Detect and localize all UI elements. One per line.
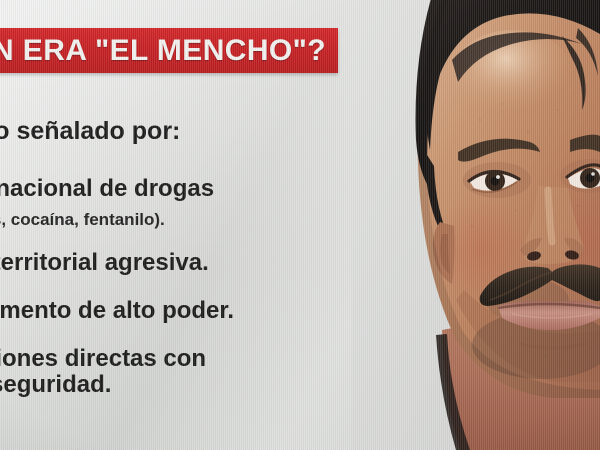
- tv-news-graphic: N ERA "EL MENCHO"? ha sido señalado por:…: [0, 0, 600, 450]
- lede-line: ha sido señalado por:: [0, 118, 352, 144]
- portrait-illustration: [352, 0, 600, 450]
- headline-banner-text: N ERA "EL MENCHO"?: [0, 36, 338, 66]
- bullet-item-4-line2: as de seguridad.: [0, 372, 352, 398]
- bullet-item-1-subtext: fetaminas, cocaína, fentanilo).: [0, 211, 352, 230]
- bullet-item-3: e armamento de alto poder.: [0, 298, 352, 324]
- bullet-item-4: rontaciones directas con as de seguridad…: [0, 346, 352, 398]
- bullet-item-4-line1: rontaciones directas con: [0, 346, 352, 372]
- bullet-copy-block: ha sido señalado por: o internacional de…: [0, 118, 352, 419]
- bullet-item-2: nsión territorial agresiva.: [0, 250, 352, 276]
- headline-banner: N ERA "EL MENCHO"?: [0, 28, 338, 73]
- bullet-item-1: o internacional de drogas: [0, 176, 352, 202]
- portrait-photo: [352, 0, 600, 450]
